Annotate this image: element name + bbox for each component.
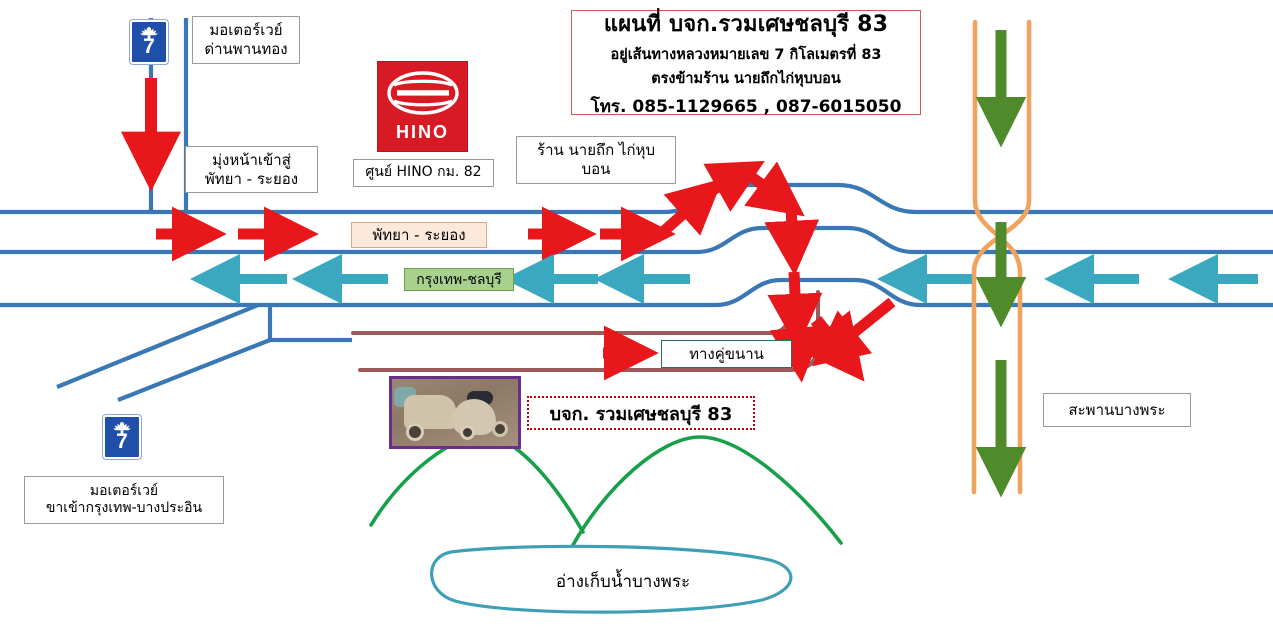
road-chip-bangkok-chonburi: กรุงเทพ-ชลบุรี [404, 268, 514, 291]
road-chip-pattaya-rayong: พัทยา - ระยอง [351, 222, 487, 248]
map-title-card: แผนที่ บจก.รวมเศษชลบุรี 83 อยู่เส้นทางหล… [571, 10, 921, 115]
red-arrow-9 [794, 272, 796, 318]
garuda-crown-icon-2 [112, 420, 132, 433]
hino-logo: HINO [377, 61, 468, 152]
arrows-red-pattaya [156, 172, 892, 353]
hino-wordmark: HINO [396, 122, 449, 143]
highway-shield-bottom: 7 [103, 415, 141, 459]
label-motorway-phanthong: มอเตอร์เวย์ ด่านพานทอง [192, 16, 300, 64]
label-bangphra-bridge: สะพานบางพระ [1043, 393, 1191, 427]
label-frontage-road: ทางคู่ขนาน [661, 340, 792, 368]
title-line-3: ตรงข้ามร้าน นายถึกไก่หุบบอน [651, 67, 841, 90]
scooter-sidecar-photo [389, 376, 521, 449]
label-hino-center: ศูนย์ HINO กม. 82 [353, 159, 494, 187]
scooter-wheel-sidecar [492, 421, 508, 437]
label-motorway-bangkok: มอเตอร์เวย์ ขาเข้ากรุงเทพ-บางประอิน [24, 476, 224, 524]
hills [371, 435, 841, 545]
scooter-wheel-front [406, 423, 424, 441]
red-arrow-8 [791, 208, 793, 245]
label-company-name: บจก. รวมเศษชลบุรี 83 [527, 396, 755, 430]
map-canvas: แผนที่ บจก.รวมเศษชลบุรี 83 อยู่เส้นทางหล… [0, 0, 1273, 627]
title-line-1: แผนที่ บจก.รวมเศษชลบุรี 83 [604, 6, 888, 41]
hill-left [371, 435, 583, 532]
hill-right [573, 437, 841, 545]
highway-shield-top-number: 7 [143, 37, 155, 57]
hino-emblem-icon [386, 70, 460, 120]
title-phone-line: โทร. 085-1129665 , 087-6015050 [591, 93, 902, 120]
label-reservoir: อ่างเก็บน้ำบางพระ [528, 568, 718, 595]
road-top-overpass-1 [664, 185, 1273, 212]
red-arrow-11 [836, 302, 892, 347]
label-heading-pattaya-rayong: มุ่งหน้าเข้าสู่ พัทยา - ระยอง [185, 146, 318, 193]
road-ramp-diagonal-a [57, 305, 258, 387]
title-line-2: อยู่เส้นทางหลวงหมายเลข 7 กิโลเมตรที่ 83 [610, 43, 881, 66]
scooter-wheel-rear [460, 425, 475, 440]
label-naithuek-shop: ร้าน นายถึก ไก่หุบ บอน [516, 136, 676, 184]
highway-shield-top: 7 [130, 20, 168, 64]
highway-shield-bottom-number: 7 [116, 432, 128, 452]
garuda-crown-icon [139, 25, 159, 38]
red-arrow-10 [797, 330, 799, 352]
red-arrow-5 [664, 199, 700, 231]
